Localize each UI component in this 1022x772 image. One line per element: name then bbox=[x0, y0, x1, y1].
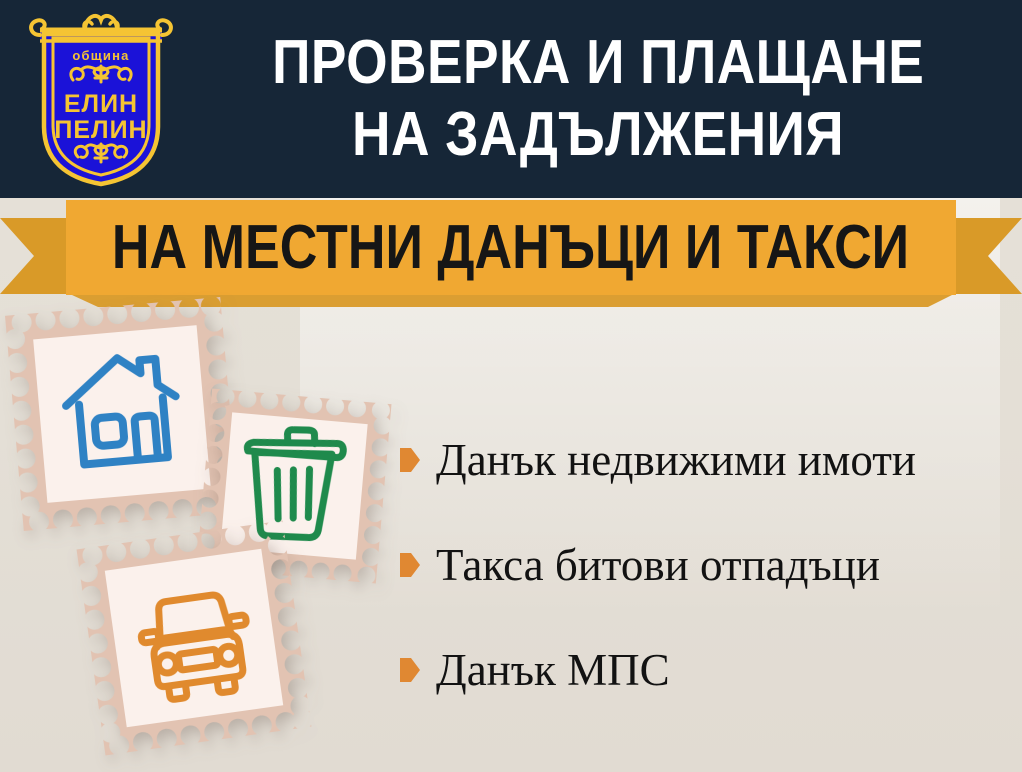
services-list: Данък недвижими имоти Такса битови отпад… bbox=[400, 432, 1010, 747]
arrow-bullet-icon bbox=[400, 553, 420, 577]
list-item-label: Данък МПС bbox=[436, 645, 670, 695]
subtitle-ribbon: НА МЕСТНИ ДАНЪЦИ И ТАКСИ bbox=[0, 200, 1022, 305]
arrow-bullet-icon bbox=[400, 658, 420, 682]
logo-line-top: община bbox=[72, 48, 129, 63]
logo-line-name1: ЕЛИН bbox=[64, 90, 138, 118]
arrow-bullet-icon bbox=[400, 448, 420, 472]
list-item[interactable]: Данък недвижими имоти bbox=[400, 432, 1010, 488]
municipality-logo: община ЕЛИН ПЕЛИН bbox=[26, 8, 176, 190]
poster-title: ПРОВЕРКА И ПЛАЩАНЕ НА ЗАДЪЛЖЕНИЯ bbox=[186, 18, 1010, 180]
poster-header: община ЕЛИН ПЕЛИН bbox=[0, 0, 1022, 198]
title-line-1: ПРОВЕРКА И ПЛАЩАНЕ bbox=[272, 28, 924, 98]
logo-line-name2: ПЕЛИН bbox=[54, 116, 147, 144]
list-item[interactable]: Данък МПС bbox=[400, 642, 1010, 698]
list-item-label: Данък недвижими имоти bbox=[436, 435, 916, 485]
poster-canvas: община ЕЛИН ПЕЛИН bbox=[0, 0, 1022, 772]
title-line-2: НА ЗАДЪЛЖЕНИЯ bbox=[352, 100, 844, 170]
list-item[interactable]: Такса битови отпадъци bbox=[400, 537, 1010, 593]
list-item-label: Такса битови отпадъци bbox=[436, 540, 880, 590]
stamp-vehicle bbox=[77, 521, 312, 756]
ribbon-label: НА МЕСТНИ ДАНЪЦИ И ТАКСИ bbox=[112, 216, 909, 280]
ribbon-center: НА МЕСТНИ ДАНЪЦИ И ТАКСИ bbox=[66, 200, 956, 295]
